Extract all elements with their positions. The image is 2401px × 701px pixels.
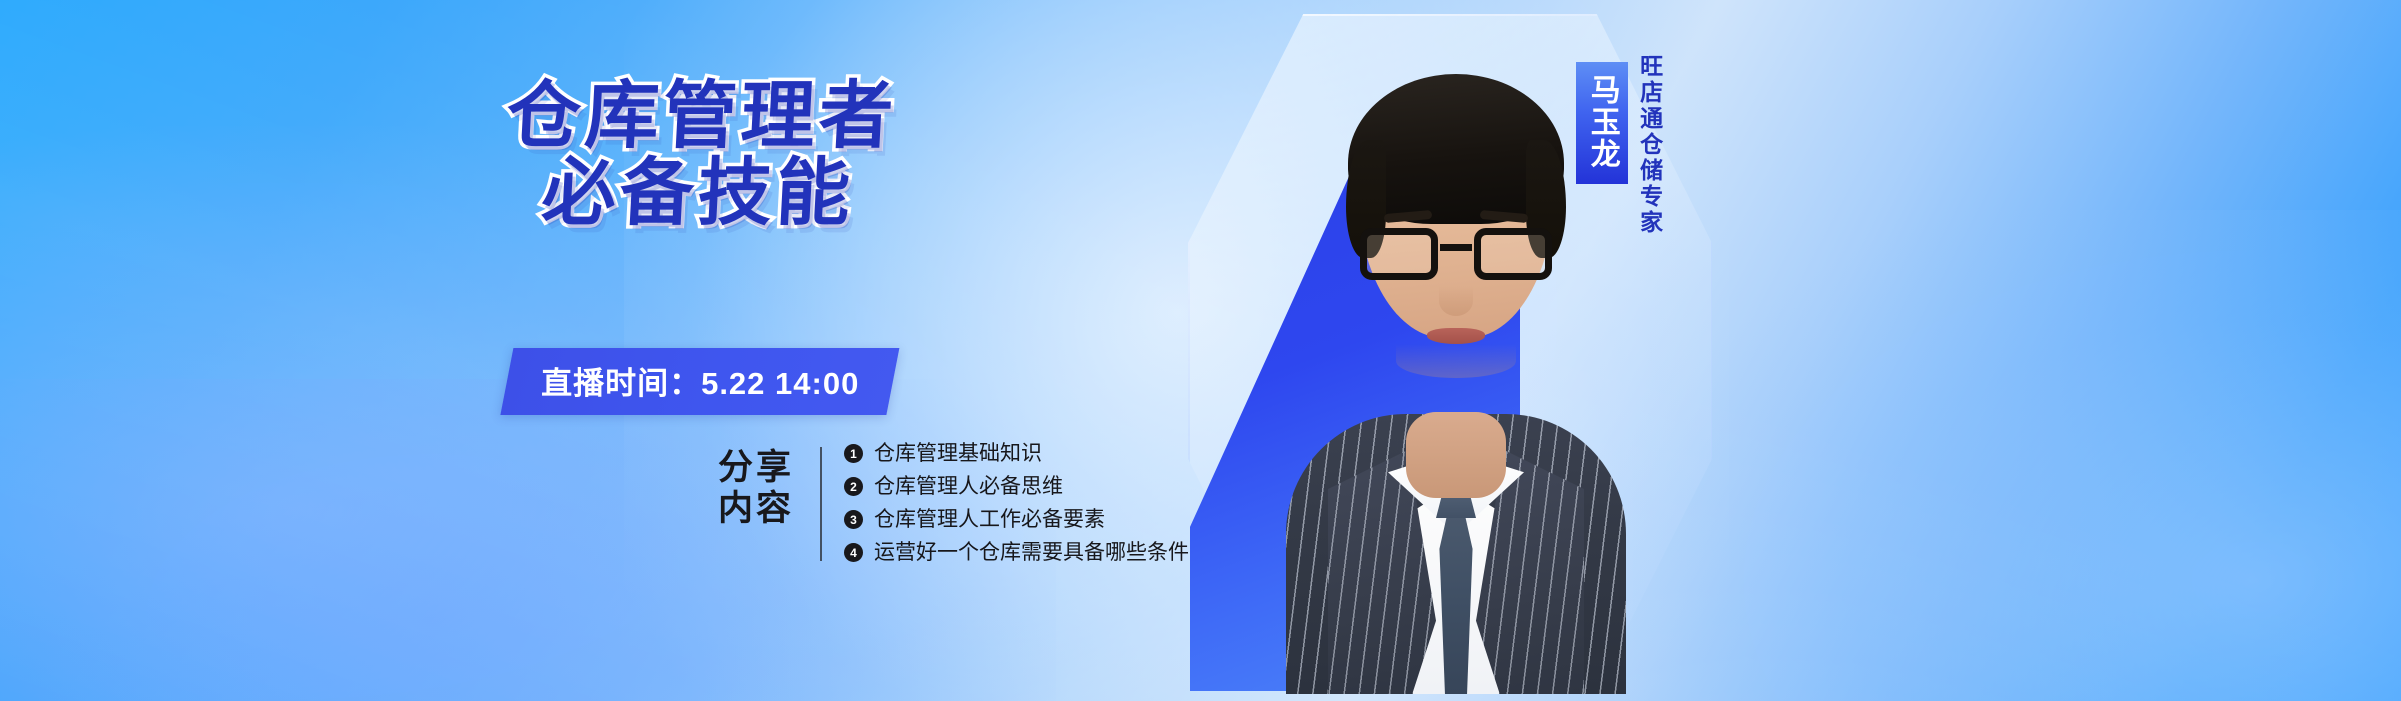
share-label-line-2: 内容 xyxy=(718,488,794,529)
share-topic-list: 1 仓库管理基础知识 2 仓库管理人必备思维 3 仓库管理人工作必备要素 4 运… xyxy=(844,443,1189,563)
eyeglass-bridge xyxy=(1440,244,1472,251)
list-item: 3 仓库管理人工作必备要素 xyxy=(844,509,1189,530)
nose xyxy=(1439,286,1473,316)
list-item: 1 仓库管理基础知识 xyxy=(844,443,1189,464)
list-item-label: 仓库管理人必备思维 xyxy=(874,476,1063,497)
vertical-divider xyxy=(820,447,822,561)
speaker-role-tag: 旺店通仓储专家 xyxy=(1636,54,1663,236)
speaker-name-tag: 马玉龙 xyxy=(1576,62,1628,184)
list-number-badge: 4 xyxy=(844,543,863,562)
list-item: 4 运营好一个仓库需要具备哪些条件 xyxy=(844,542,1189,563)
eyeglasses-icon xyxy=(1358,228,1554,284)
headline-line-2: 必备技能 xyxy=(501,157,895,228)
mouth xyxy=(1427,328,1485,344)
eyeglass-lens-right xyxy=(1474,228,1552,280)
text-content-column: 仓库管理者 必备技能 直播时间：5.22 14:00 分享 内容 1 仓库管理基… xyxy=(0,0,1250,701)
list-item-label: 运营好一个仓库需要具备哪些条件 xyxy=(874,542,1189,563)
share-content-section: 分享 内容 1 仓库管理基础知识 2 仓库管理人必备思维 3 仓库管理人工作必备… xyxy=(718,443,1189,563)
live-promo-banner: 仓库管理者 必备技能 直播时间：5.22 14:00 分享 内容 1 仓库管理基… xyxy=(0,0,2401,701)
list-item-label: 仓库管理基础知识 xyxy=(874,443,1042,464)
share-content-label: 分享 内容 xyxy=(718,443,794,530)
chin-shadow xyxy=(1396,344,1516,378)
live-time-text: 直播时间：5.22 14:00 xyxy=(541,358,859,403)
list-number-badge: 1 xyxy=(844,444,863,463)
live-time-banner: 直播时间：5.22 14:00 xyxy=(500,348,899,415)
headline-line-1: 仓库管理者 xyxy=(505,80,899,151)
list-item: 2 仓库管理人必备思维 xyxy=(844,476,1189,497)
share-label-line-1: 分享 xyxy=(718,447,794,488)
eyeglass-lens-left xyxy=(1360,228,1438,280)
headline-title: 仓库管理者 必备技能 xyxy=(501,80,899,228)
speaker-name: 马玉龙 xyxy=(1585,74,1619,170)
list-number-badge: 3 xyxy=(844,510,863,529)
neck xyxy=(1406,412,1506,498)
list-number-badge: 2 xyxy=(844,477,863,496)
speaker-portrait-zone: 马玉龙 旺店通仓储专家 xyxy=(1180,0,1820,701)
speaker-role: 旺店通仓储专家 xyxy=(1636,54,1663,236)
list-item-label: 仓库管理人工作必备要素 xyxy=(874,509,1105,530)
